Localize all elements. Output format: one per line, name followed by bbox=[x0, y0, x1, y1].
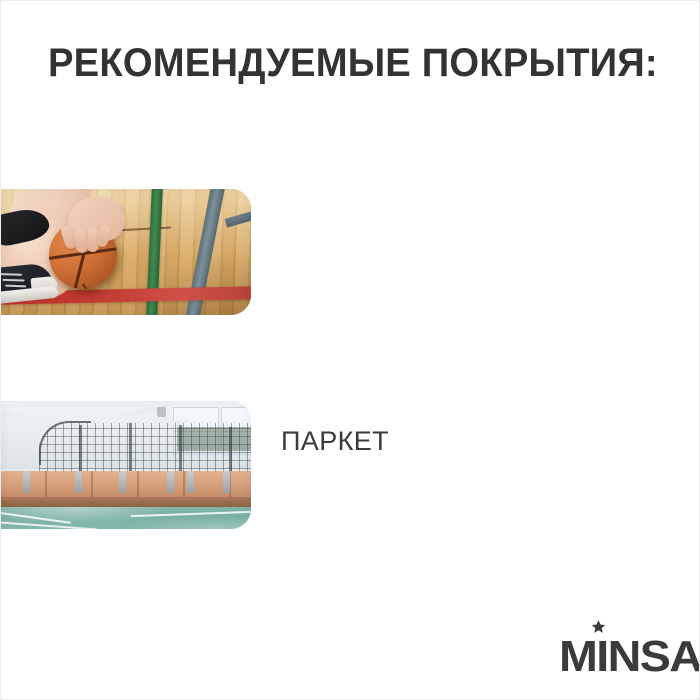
brand-logo: MINSA bbox=[559, 617, 679, 679]
ceiling-lamp bbox=[157, 407, 166, 417]
wooden-wall-panels bbox=[1, 471, 251, 499]
brand-logo-text: MINSA bbox=[559, 635, 700, 679]
parquet-gym-floor-photo bbox=[1, 189, 251, 315]
panel-post bbox=[23, 471, 30, 493]
panel-post bbox=[119, 471, 126, 493]
net-support-post bbox=[129, 423, 132, 477]
panel-post bbox=[223, 471, 230, 493]
page-title: РЕКОМЕНДУЕМЫЕ ПОКРЫТИЯ: bbox=[48, 41, 658, 85]
pvc-linoleum-sports-hall-photo bbox=[1, 401, 251, 529]
slide-canvas: РЕКОМЕНДУЕМЫЕ ПОКРЫТИЯ: bbox=[0, 0, 700, 700]
panel-base-shadow bbox=[1, 497, 251, 507]
net-support-post bbox=[179, 425, 182, 477]
panel-post bbox=[167, 471, 174, 493]
player-sneaker bbox=[1, 262, 61, 307]
net-support-post bbox=[79, 425, 82, 477]
panel-post bbox=[187, 471, 194, 493]
net-support-post bbox=[229, 427, 232, 477]
covering-label-parquet: ПАРКЕТ bbox=[281, 422, 389, 460]
panel-post bbox=[75, 471, 82, 493]
